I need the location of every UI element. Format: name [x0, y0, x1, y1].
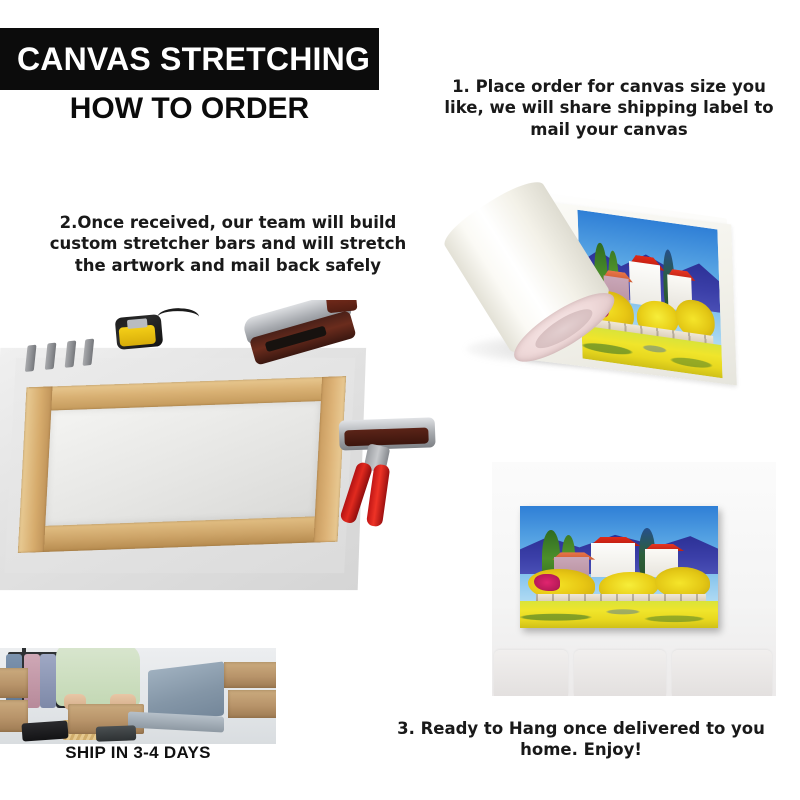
step-3-text: 3. Ready to Hang once delivered to you h… — [382, 718, 780, 761]
rolled-canvas-photo — [444, 182, 796, 428]
stretched-canvas-face — [45, 401, 321, 526]
tape-measure-window — [127, 318, 148, 329]
stretcher-frame-photo — [0, 300, 440, 630]
wedge-1 — [25, 345, 37, 372]
ship-time-label: SHIP IN 3-4 DAYS — [0, 743, 276, 763]
tape-measure-blade — [156, 307, 199, 329]
smartphone — [96, 725, 136, 741]
infographic-canvas: CANVAS STRETCHING HOW TO ORDER 1. Place … — [0, 0, 800, 800]
room-sofa — [492, 644, 776, 696]
step-1-text: 1. Place order for canvas size you like,… — [430, 76, 788, 140]
artwork-print-hung — [520, 506, 718, 628]
sofa-cushion-3 — [672, 650, 772, 696]
title-banner: CANVAS STRETCHING — [0, 28, 379, 90]
stacked-box-3 — [224, 662, 276, 688]
page-subtitle: HOW TO ORDER — [0, 92, 379, 126]
sofa-cushion-2 — [574, 650, 666, 696]
wedge-3 — [65, 340, 77, 367]
stacked-box-1 — [0, 668, 28, 698]
page-title: CANVAS STRETCHING — [17, 41, 370, 78]
sofa-cushion-1 — [494, 650, 568, 696]
art-foreground-field — [520, 601, 718, 628]
packing-photo — [0, 648, 276, 744]
step-2-text: 2.Once received, our team will build cus… — [34, 212, 422, 276]
hanging-garment-3 — [40, 654, 56, 708]
pliers-jaw-pad — [344, 427, 429, 446]
stacked-box-4 — [228, 690, 276, 718]
wooden-stretcher-frame — [18, 376, 346, 553]
wedge-4 — [82, 339, 94, 366]
hung-canvas-photo — [492, 462, 776, 696]
calculator — [21, 720, 68, 741]
staple-gun-top-grip — [326, 300, 358, 313]
wedge-2 — [45, 343, 57, 370]
